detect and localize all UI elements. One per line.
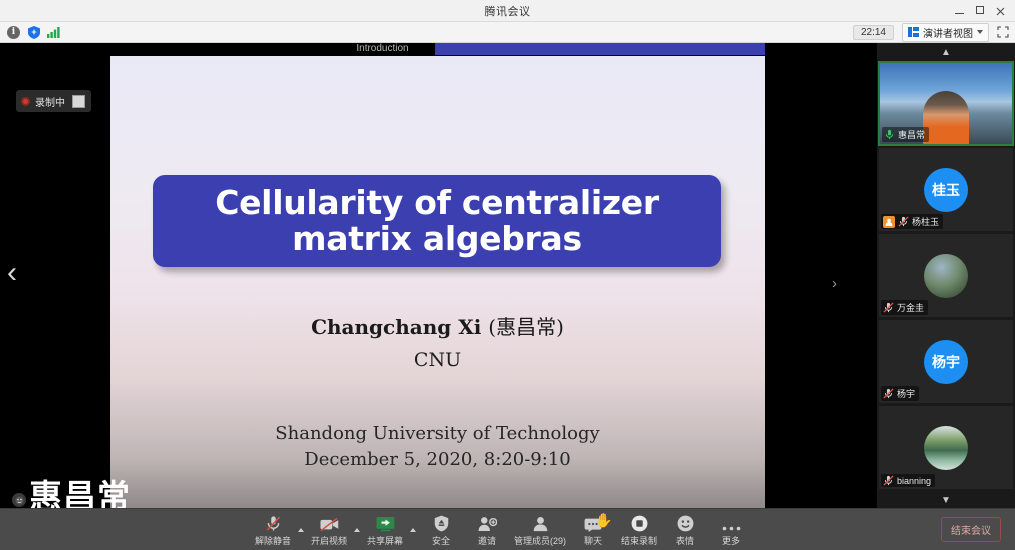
participant-name: 万金圭 xyxy=(897,301,924,314)
participant-name-bar: 惠昌常 xyxy=(882,127,929,142)
slide-author-cn: (惠昌常) xyxy=(488,315,564,339)
chevron-left-icon[interactable]: ‹ xyxy=(7,258,17,288)
control-button-stop-recording[interactable]: 结束录制 xyxy=(616,510,662,550)
control-button-label: 开启视频 xyxy=(311,534,347,547)
slide-venue: Shandong University of Technology xyxy=(110,421,765,447)
participant-name: 杨宇 xyxy=(897,387,915,400)
participant-name-bar: 杨柱玉 xyxy=(881,214,943,229)
minimize-icon[interactable] xyxy=(955,6,964,17)
mic-muted-icon xyxy=(883,388,894,399)
chevron-up-icon[interactable]: ▲ xyxy=(877,43,1015,61)
shield-icon[interactable] xyxy=(27,26,40,39)
close-icon[interactable] xyxy=(996,7,1005,16)
recording-label: 录制中 xyxy=(35,94,65,109)
participant-tile[interactable]: 惠昌常 xyxy=(878,61,1014,146)
slide-title-text: Cellularity of centralizer matrix algebr… xyxy=(171,185,703,256)
slide-affiliation: CNU xyxy=(110,349,765,371)
meeting-clock: 22:14 xyxy=(853,25,894,40)
chevron-up-icon[interactable] xyxy=(296,510,306,550)
control-button-share-screen[interactable]: 共享屏幕 xyxy=(362,510,408,550)
speaker-indicator-icon xyxy=(12,493,26,507)
chevron-down-icon[interactable] xyxy=(977,30,983,34)
control-buttons: 解除静音开启视频共享屏幕安全邀请管理成员(29)聊天结束录制表情更多 xyxy=(250,510,754,550)
view-mode-label: 演讲者视图 xyxy=(923,25,973,40)
slide-header-band xyxy=(435,43,765,55)
participant-tile[interactable]: bianning xyxy=(878,405,1014,490)
chevron-down-icon[interactable]: ▼ xyxy=(877,491,1015,509)
signal-bars-icon[interactable] xyxy=(47,26,60,39)
maximize-icon[interactable] xyxy=(976,6,984,17)
control-button-participants[interactable]: 管理成员(29) xyxy=(510,510,570,550)
view-mode-selector[interactable]: 演讲者视图 xyxy=(902,23,989,42)
control-button-mic-muted[interactable]: 解除静音 xyxy=(250,510,296,550)
control-button-label: 聊天 xyxy=(584,534,602,547)
control-button-security-shield[interactable]: 安全 xyxy=(418,510,464,550)
slide-section-label: Introduction xyxy=(330,43,435,55)
participant-name: bianning xyxy=(897,476,931,486)
slide-title-box: Cellularity of centralizer matrix algebr… xyxy=(153,175,721,267)
hand-cursor-icon: ✋ xyxy=(595,512,612,529)
info-icon[interactable]: i xyxy=(7,26,20,39)
meeting-stage: Introduction 录制中 Cellularity of centrali… xyxy=(0,43,1015,508)
control-button-label: 共享屏幕 xyxy=(367,534,403,547)
control-button-label: 更多 xyxy=(722,534,740,547)
fullscreen-icon[interactable] xyxy=(997,26,1009,38)
mic-muted-icon xyxy=(883,302,894,313)
mic-on-icon xyxy=(884,129,895,140)
meeting-info-toolbar: i 22:14 演讲者视图 xyxy=(0,22,1015,43)
mic-muted-icon xyxy=(898,216,909,227)
control-button-label: 邀请 xyxy=(478,534,496,547)
chevron-up-icon[interactable] xyxy=(408,510,418,550)
participant-name-bar: bianning xyxy=(881,474,935,487)
window-controls xyxy=(955,0,1011,22)
slide-author-en: Changchang Xi xyxy=(311,315,481,339)
slide-date: December 5, 2020, 8:20-9:10 xyxy=(110,447,765,473)
emoji-smiley-icon xyxy=(677,513,694,532)
avatar: 杨宇 xyxy=(924,340,968,384)
slide-author: Changchang Xi (惠昌常) xyxy=(110,311,765,340)
participant-tile[interactable]: 杨宇杨宇 xyxy=(878,319,1014,404)
meeting-window: 腾讯会议 i 22:14 xyxy=(0,0,1015,550)
shared-slide: Cellularity of centralizer matrix algebr… xyxy=(110,56,765,546)
chevron-up-icon[interactable] xyxy=(352,510,362,550)
participant-filmstrip: ▲ 惠昌常桂玉杨柱玉万金圭杨宇杨宇bianning ▼ xyxy=(877,43,1015,508)
meeting-controls-toolbar: 解除静音开启视频共享屏幕安全邀请管理成员(29)聊天结束录制表情更多 结束会议 xyxy=(0,508,1015,550)
control-button-label: 管理成员(29) xyxy=(514,534,566,547)
participant-name: 杨柱玉 xyxy=(912,215,939,228)
camera-off-icon xyxy=(320,513,339,532)
control-button-label: 解除静音 xyxy=(255,534,291,547)
record-dot-icon xyxy=(21,97,30,106)
control-button-label: 表情 xyxy=(676,534,694,547)
control-button-label: 安全 xyxy=(432,534,450,547)
mic-muted-icon xyxy=(265,513,282,532)
stop-recording-icon xyxy=(631,513,648,532)
mic-muted-icon xyxy=(883,475,894,486)
participant-name-bar: 杨宇 xyxy=(881,386,919,401)
control-button-camera-off[interactable]: 开启视频 xyxy=(306,510,352,550)
control-button-more-dots[interactable]: 更多 xyxy=(708,510,754,550)
participants-icon xyxy=(532,513,549,532)
layout-icon xyxy=(908,27,919,37)
invite-person-icon xyxy=(478,513,497,532)
avatar: 桂玉 xyxy=(924,168,968,212)
share-screen-icon xyxy=(376,513,395,532)
window-title-bar: 腾讯会议 xyxy=(0,0,1015,22)
host-badge-icon xyxy=(883,216,895,228)
control-button-emoji-smiley[interactable]: 表情 xyxy=(662,510,708,550)
window-title: 腾讯会议 xyxy=(485,3,531,19)
participant-name: 惠昌常 xyxy=(898,128,925,141)
slide-venue-block: Shandong University of Technology Decemb… xyxy=(110,421,765,473)
avatar xyxy=(924,254,968,298)
participant-name-bar: 万金圭 xyxy=(881,300,928,315)
recording-indicator[interactable]: 录制中 xyxy=(16,90,91,112)
stop-square-icon[interactable] xyxy=(72,95,85,108)
chevron-right-small-icon[interactable]: › xyxy=(832,276,837,291)
control-button-invite-person[interactable]: 邀请 xyxy=(464,510,510,550)
participant-tile[interactable]: 万金圭 xyxy=(878,233,1014,318)
participant-tile[interactable]: 桂玉杨柱玉 xyxy=(878,147,1014,232)
end-meeting-button[interactable]: 结束会议 xyxy=(941,517,1001,542)
more-dots-icon xyxy=(722,513,741,532)
participant-tile-list: 惠昌常桂玉杨柱玉万金圭杨宇杨宇bianning xyxy=(877,61,1015,490)
avatar xyxy=(924,426,968,470)
security-shield-icon xyxy=(434,513,449,532)
control-button-label: 结束录制 xyxy=(621,534,657,547)
